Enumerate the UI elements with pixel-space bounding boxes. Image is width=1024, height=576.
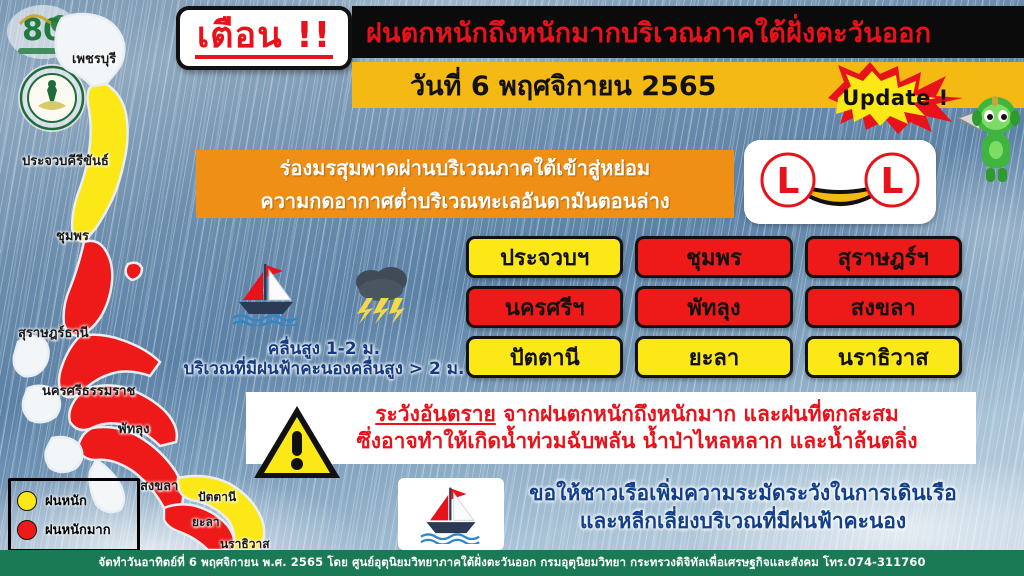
date-label: วันที่ 6 พฤศจิกายน 2565 xyxy=(410,64,716,107)
province-chip[interactable]: ชุมพร xyxy=(635,236,792,278)
headline-title: ฝนตกหนักถึงหนักมากบริเวณภาคใต้ฝั่งตะวันอ… xyxy=(366,11,931,54)
advisory-line-1: ขอให้ชาวเรือเพิ่มความระมัดระวังในการเดิน… xyxy=(510,480,976,508)
danger-prefix: ระวังอันตราย xyxy=(375,402,496,426)
danger-line-1: ระวังอันตราย จากฝนตกหนักถึงหนักมาก และฝน… xyxy=(306,401,968,428)
danger-line-2: ซึ่งอาจทำให้เกิดน้ำท่วมฉับพลัน น้ำป่าไหล… xyxy=(306,428,968,455)
mariner-advisory-panel: ขอให้ชาวเรือเพิ่มความระมัดระวังในการเดิน… xyxy=(398,478,976,550)
sailboat-icon xyxy=(419,484,483,544)
province-chip[interactable]: พัทลุง xyxy=(635,286,792,328)
legend-swatch-red xyxy=(17,520,37,540)
sea-line-2: บริเวณที่มีฝนฟ้าคะนองคลื่นสูง > 2 ม. xyxy=(172,359,476,380)
headline-bar: ฝนตกหนักถึงหนักมากบริเวณภาคใต้ฝั่งตะวันอ… xyxy=(352,6,1024,58)
danger-line-1-rest: จากฝนตกหนักถึงหนักมาก และฝนที่ตกสะสม xyxy=(496,402,899,426)
map-label: สงขลา xyxy=(140,475,178,496)
infographic-canvas: 80 เพชรบุรี ประจว xyxy=(0,0,1024,576)
sailboat-icon xyxy=(231,260,301,326)
legend-swatch-yellow xyxy=(17,491,37,511)
legend-label: ฝนหนัก xyxy=(45,490,87,511)
footer-bar: จัดทำวันอาทิตย์ที่ 6 พฤศจิกายน พ.ศ. 2565… xyxy=(0,550,1024,576)
synopsis-line-2: ความกดอากาศต่ำบริเวณทะเลอันดามันตอนล่าง xyxy=(260,185,669,217)
map-label: ประจวบคีรีขันธ์ xyxy=(22,150,109,171)
danger-panel: ระวังอันตราย จากฝนตกหนักถึงหนักมาก และฝน… xyxy=(246,392,976,464)
map-label: ชุมพร xyxy=(56,225,89,246)
map-label: ยะลา xyxy=(192,513,220,532)
province-chip[interactable]: นราธิวาส xyxy=(805,336,962,378)
synopsis-line-1: ร่องมรสุมพาดผ่านบริเวณภาคใต้เข้าสู่หย่อม xyxy=(280,152,651,184)
legend-label: ฝนหนักมาก xyxy=(45,519,111,540)
warning-triangle-icon xyxy=(251,402,343,482)
legend-item-very-heavy-rain: ฝนหนักมาก xyxy=(17,519,131,540)
weather-mascot-icon xyxy=(940,72,1024,184)
province-chip[interactable]: นครศรีฯ xyxy=(466,286,623,328)
province-chip[interactable]: สงขลา xyxy=(805,286,962,328)
advisory-line-2: และหลีกเลี่ยงบริเวณที่มีฝนฟ้าคะนอง xyxy=(510,508,976,536)
map-label: ปัตตานี xyxy=(198,488,236,507)
warning-badge: เตือน !! xyxy=(176,6,352,70)
legend-item-heavy-rain: ฝนหนัก xyxy=(17,490,131,511)
synopsis-panel: ร่องมรสุมพาดผ่านบริเวณภาคใต้เข้าสู่หย่อม… xyxy=(196,150,734,218)
svg-text:L: L xyxy=(777,161,800,202)
sea-line-1: คลื่นสูง 1-2 ม. xyxy=(172,339,476,360)
affected-provinces-grid: ประจวบฯ ชุมพร สุราษฎร์ฯ นครศรีฯ พัทลุง ส… xyxy=(466,236,962,378)
map-legend: ฝนหนัก ฝนหนักมาก xyxy=(8,478,140,552)
province-chip[interactable]: ปัตตานี xyxy=(466,336,623,378)
advisory-icon-badge xyxy=(398,478,504,550)
map-label: เพชรบุรี xyxy=(72,48,116,69)
province-chip[interactable]: ยะลา xyxy=(635,336,792,378)
province-chip[interactable]: ประจวบฯ xyxy=(466,236,623,278)
map-label: สุราษฎร์ธานี xyxy=(18,322,89,343)
footer-text: จัดทำวันอาทิตย์ที่ 6 พฤศจิกายน พ.ศ. 2565… xyxy=(98,554,925,572)
warning-badge-label: เตือน !! xyxy=(195,17,333,60)
province-chip[interactable]: สุราษฎร์ฯ xyxy=(805,236,962,278)
thunderstorm-icon xyxy=(347,260,417,326)
low-pressure-smiley: L L xyxy=(744,140,936,224)
map-label: นครศรีธรรมราช xyxy=(42,380,135,401)
sea-condition-panel: คลื่นสูง 1-2 ม. บริเวณที่มีฝนฟ้าคะนองคลื… xyxy=(178,238,470,384)
map-label: พัทลุง xyxy=(118,418,149,439)
svg-text:L: L xyxy=(881,161,904,202)
